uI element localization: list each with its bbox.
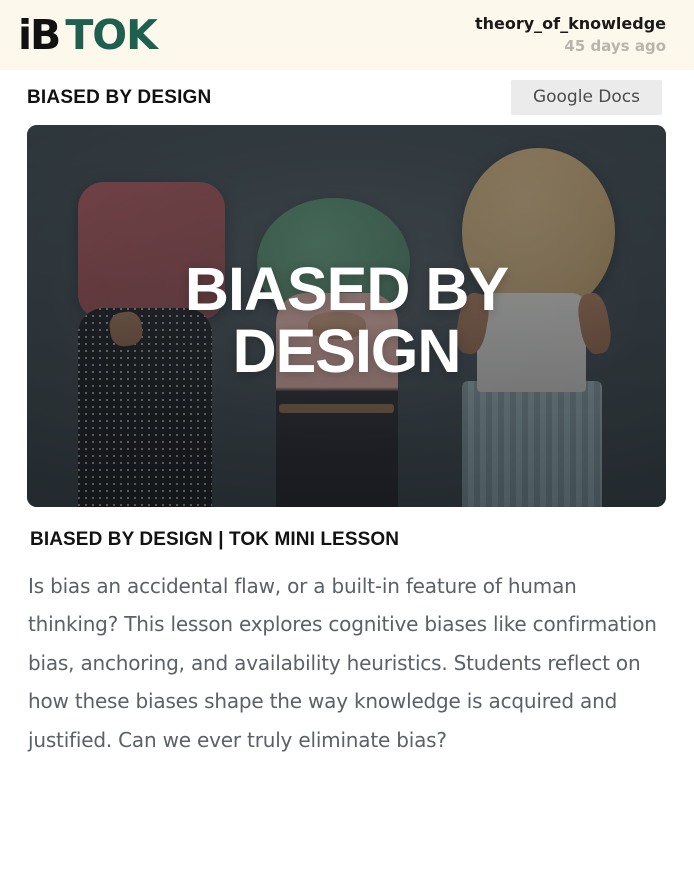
overlay-title-line-1: BIASED BY xyxy=(185,258,508,320)
document-title-row: BIASED BY DESIGN Google Docs xyxy=(0,70,694,125)
source-badge-google-docs[interactable]: Google Docs xyxy=(511,80,662,115)
timestamp-label: 45 days ago xyxy=(475,37,666,56)
thumbnail-overlay-title: BIASED BY DESIGN xyxy=(27,125,666,507)
ibtok-logo[interactable]: iB TOK xyxy=(18,15,157,56)
logo-tok-text: TOK xyxy=(65,15,157,56)
app-header: iB TOK theory_of_knowledge 45 days ago xyxy=(0,0,694,70)
lesson-description: Is bias an accidental flaw, or a built-i… xyxy=(28,567,664,759)
page-title: BIASED BY DESIGN xyxy=(27,87,211,109)
lesson-card-page: iB TOK theory_of_knowledge 45 days ago B… xyxy=(0,0,694,894)
logo-ib-text: iB xyxy=(18,15,59,56)
lesson-thumbnail[interactable]: BIASED BY DESIGN xyxy=(27,125,666,507)
lesson-caption: BIASED BY DESIGN | TOK MINI LESSON xyxy=(30,529,666,551)
overlay-title-line-2: DESIGN xyxy=(233,320,461,382)
header-meta: theory_of_knowledge 45 days ago xyxy=(475,14,666,56)
course-name-label: theory_of_knowledge xyxy=(475,14,666,34)
